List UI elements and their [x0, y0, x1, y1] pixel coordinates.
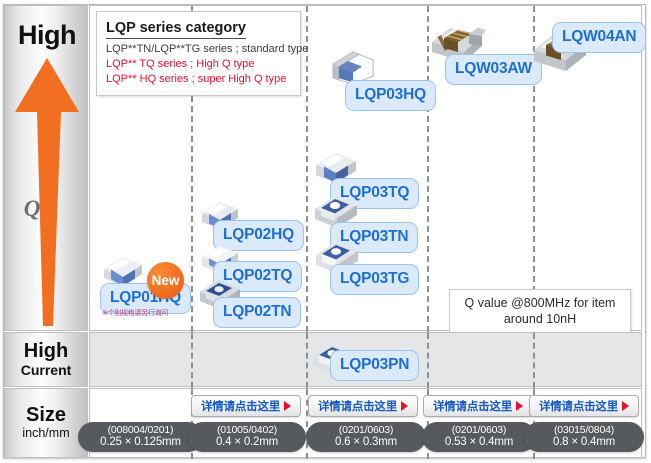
size-capsule-col5: (03015/0804) 0.8 × 0.4mm [524, 422, 644, 452]
play-triangle-icon [284, 401, 291, 411]
size-dim-col5: 0.8 × 0.4mm [553, 436, 615, 450]
size-capsule-col1: (008004/0201) 0.25 × 0.125mm [78, 422, 203, 452]
size-capsule-col4: (0201/0603) 0.53 × 0.4mm [422, 422, 536, 452]
legend-line-2: LQP** HQ series ; super High Q type [106, 72, 291, 87]
q-axis-column: High Q [4, 5, 88, 331]
size-code-col3: (0201/0603) [339, 424, 393, 436]
row-label-size: Size inch/mm [4, 388, 88, 458]
detail-link-col2[interactable]: 详情请点击这里 [191, 395, 301, 417]
lqp01hq-footnote: ※个别规格请另行询问 [102, 308, 168, 318]
size-dim-col4: 0.53 × 0.4mm [445, 436, 513, 450]
size-dim-col2: 0.4 × 0.2mm [216, 436, 278, 450]
axis-q-label: Q [17, 196, 47, 222]
detail-link-label-col2: 详情请点击这里 [201, 398, 280, 414]
product-pill-lqp03hq[interactable]: LQP03HQ [345, 80, 436, 111]
play-triangle-icon [401, 401, 408, 411]
size-dim-col1: 0.25 × 0.125mm [100, 436, 181, 450]
legend-line-1: LQP** TQ series ; High Q type [106, 57, 291, 72]
size-row: (008004/0201) 0.25 × 0.125mm 详情请点击这里 (01… [89, 388, 642, 458]
lqp-series-category-chart: High Q High Current Size inch/mm LQP ser… [0, 0, 651, 463]
hc-separator-1 [191, 333, 193, 388]
detail-link-col5[interactable]: 详情请点击这里 [529, 395, 639, 417]
plot-area: LQP series category LQP**TN/LQP**TG seri… [89, 5, 642, 331]
product-pill-lqp02tn[interactable]: LQP02TN [213, 297, 301, 328]
product-pill-lqw04an[interactable]: LQW04AN [552, 22, 646, 53]
detail-link-label-col3: 详情请点击这里 [318, 398, 397, 414]
size-code-col2: (01005/0402) [217, 424, 277, 436]
size-code-col5: (03015/0804) [554, 424, 614, 436]
detail-link-col3[interactable]: 详情请点击这里 [308, 395, 418, 417]
size-dim-col3: 0.6 × 0.3mm [335, 436, 397, 450]
detail-link-label-col5: 详情请点击这里 [539, 398, 618, 414]
row-label-high-current: High Current [4, 332, 88, 387]
detail-link-col4[interactable]: 详情请点击这里 [423, 395, 533, 417]
size-capsule-col3: (0201/0603) 0.6 × 0.3mm [306, 422, 426, 452]
high-current-line1: High [24, 341, 68, 362]
q-arrow-icon [5, 54, 89, 326]
size-code-col4: (0201/0603) [452, 424, 506, 436]
high-current-row: LQP03PN [89, 332, 642, 387]
product-pill-lqp03pn[interactable]: LQP03PN [330, 350, 419, 381]
play-triangle-icon [516, 401, 523, 411]
hc-separator-4 [533, 333, 535, 388]
legend-line-0: LQP**TN/LQP**TG series ; standard type [106, 42, 291, 57]
product-pill-lqp03tg[interactable]: LQP03TG [330, 264, 419, 295]
size-line2: inch/mm [22, 426, 69, 441]
size-code-col1: (008004/0201) [108, 424, 174, 436]
hc-separator-2 [306, 333, 308, 388]
q-value-note: Q value @800MHz for item around 10nH [449, 289, 631, 335]
product-pill-lqw03aw[interactable]: LQW03AW [445, 54, 542, 85]
size-capsule-col2: (01005/0402) 0.4 × 0.2mm [188, 422, 306, 452]
legend-box: LQP series category LQP**TN/LQP**TG seri… [96, 11, 301, 96]
new-badge: New [147, 262, 184, 299]
size-line1: Size [26, 405, 66, 426]
axis-high-label: High [5, 20, 89, 51]
detail-link-label-col4: 详情请点击这里 [433, 398, 512, 414]
hc-separator-3 [427, 333, 429, 388]
play-triangle-icon [622, 401, 629, 411]
legend-title: LQP series category [106, 20, 246, 39]
high-current-line2: Current [21, 362, 72, 378]
